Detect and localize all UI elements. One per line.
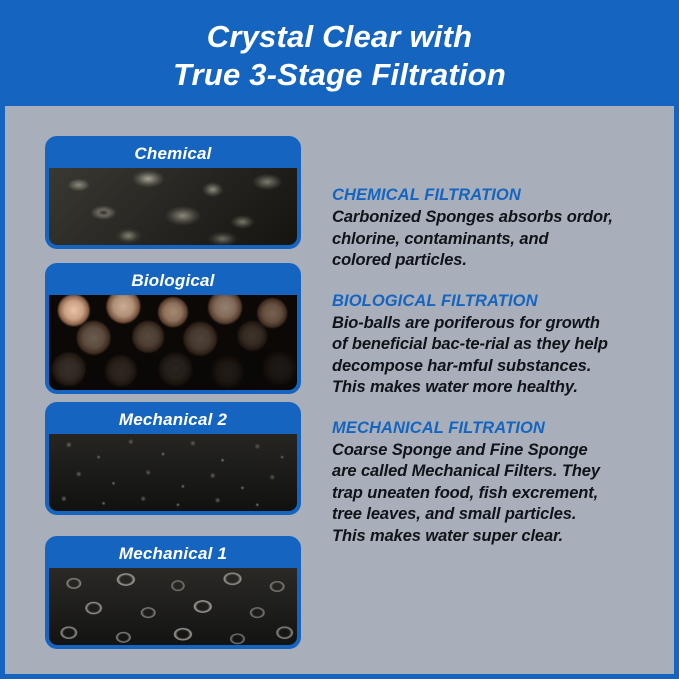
section-mechanical-line-2: are called Mechanical Filters. They: [332, 461, 642, 483]
header-banner: Crystal Clear with True 3-Stage Filtrati…: [5, 5, 674, 106]
section-biological-line-3: decompose har-mful substances.: [332, 356, 642, 378]
section-mechanical-title: MECHANICAL FILTRATION: [332, 419, 642, 438]
section-mechanical-line-5: This makes water super clear.: [332, 526, 642, 548]
section-biological-title: BIOLOGICAL FILTRATION: [332, 292, 642, 311]
bio-balls-photo: [49, 295, 297, 390]
media-card-mechanical-1-label: Mechanical 1: [49, 540, 297, 568]
section-chemical-filtration: CHEMICAL FILTRATION Carbonized Sponges a…: [332, 186, 642, 272]
section-chemical-body: Carbonized Sponges absorbs ordor, chlori…: [332, 207, 642, 272]
section-chemical-line-2: chlorine, contaminants, and: [332, 229, 642, 251]
media-card-biological: Biological: [45, 263, 301, 394]
section-mechanical-line-1: Coarse Sponge and Fine Sponge: [332, 440, 642, 462]
media-card-mechanical-2: Mechanical 2: [45, 402, 301, 515]
coarse-sponge-photo: [49, 434, 297, 511]
fine-sponge-photo: [49, 568, 297, 645]
section-mechanical-line-3: trap uneaten food, fish excrement,: [332, 483, 642, 505]
header-title-line1: Crystal Clear with: [207, 18, 472, 56]
section-mechanical-line-4: tree leaves, and small particles.: [332, 504, 642, 526]
media-card-chemical: Chemical: [45, 136, 301, 249]
section-biological-filtration: BIOLOGICAL FILTRATION Bio-balls are pori…: [332, 292, 642, 399]
media-card-mechanical-1: Mechanical 1: [45, 536, 301, 649]
section-biological-line-1: Bio-balls are poriferous for growth: [332, 313, 642, 335]
section-chemical-line-3: colored particles.: [332, 250, 642, 272]
infographic-page: Crystal Clear with True 3-Stage Filtrati…: [0, 0, 679, 679]
section-biological-body: Bio-balls are poriferous for growth of b…: [332, 313, 642, 399]
media-card-biological-label: Biological: [49, 267, 297, 295]
media-card-mechanical-2-label: Mechanical 2: [49, 406, 297, 434]
section-chemical-title: CHEMICAL FILTRATION: [332, 186, 642, 205]
media-card-chemical-label: Chemical: [49, 140, 297, 168]
section-mechanical-body: Coarse Sponge and Fine Sponge are called…: [332, 440, 642, 548]
section-chemical-line-1: Carbonized Sponges absorbs ordor,: [332, 207, 642, 229]
header-title-line2: True 3-Stage Filtration: [173, 56, 506, 94]
section-mechanical-filtration: MECHANICAL FILTRATION Coarse Sponge and …: [332, 419, 642, 548]
section-biological-line-2: of beneficial bac-te-rial as they help: [332, 334, 642, 356]
section-biological-line-4: This makes water more healthy.: [332, 377, 642, 399]
carbonized-sponge-photo: [49, 168, 297, 245]
descriptions-column: CHEMICAL FILTRATION Carbonized Sponges a…: [332, 186, 642, 567]
